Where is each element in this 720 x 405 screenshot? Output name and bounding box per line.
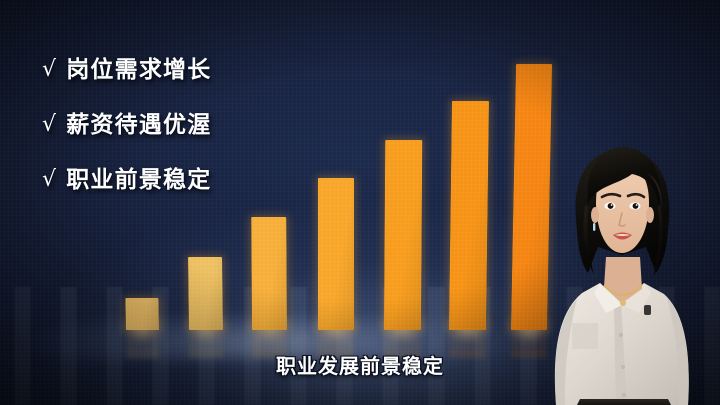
check-icon: √: [42, 57, 57, 82]
bullet-item-2-label: 薪资待遇优渥: [66, 105, 211, 139]
presenter-earring: [593, 223, 595, 231]
bullet-item-2: √ 薪资待遇优渥: [42, 105, 211, 139]
bullet-item-1: √ 岗位需求增长: [42, 50, 211, 84]
check-icon: √: [42, 167, 57, 192]
presenter-pants: [577, 399, 671, 405]
caption-text: 职业发展前景稳定: [276, 350, 444, 379]
bullet-item-1-label: 岗位需求增长: [66, 50, 211, 84]
bullet-list: √ 岗位需求增长 √ 薪资待遇优渥 √ 职业前景稳定: [42, 50, 211, 194]
bullet-item-3: √ 职业前景稳定: [42, 160, 211, 194]
caption-bar: 职业发展前景稳定: [0, 350, 720, 379]
slide-stage: √ 岗位需求增长 √ 薪资待遇优渥 √ 职业前景稳定: [0, 0, 720, 405]
check-icon: √: [42, 112, 57, 137]
bullet-item-3-label: 职业前景稳定: [66, 160, 211, 194]
